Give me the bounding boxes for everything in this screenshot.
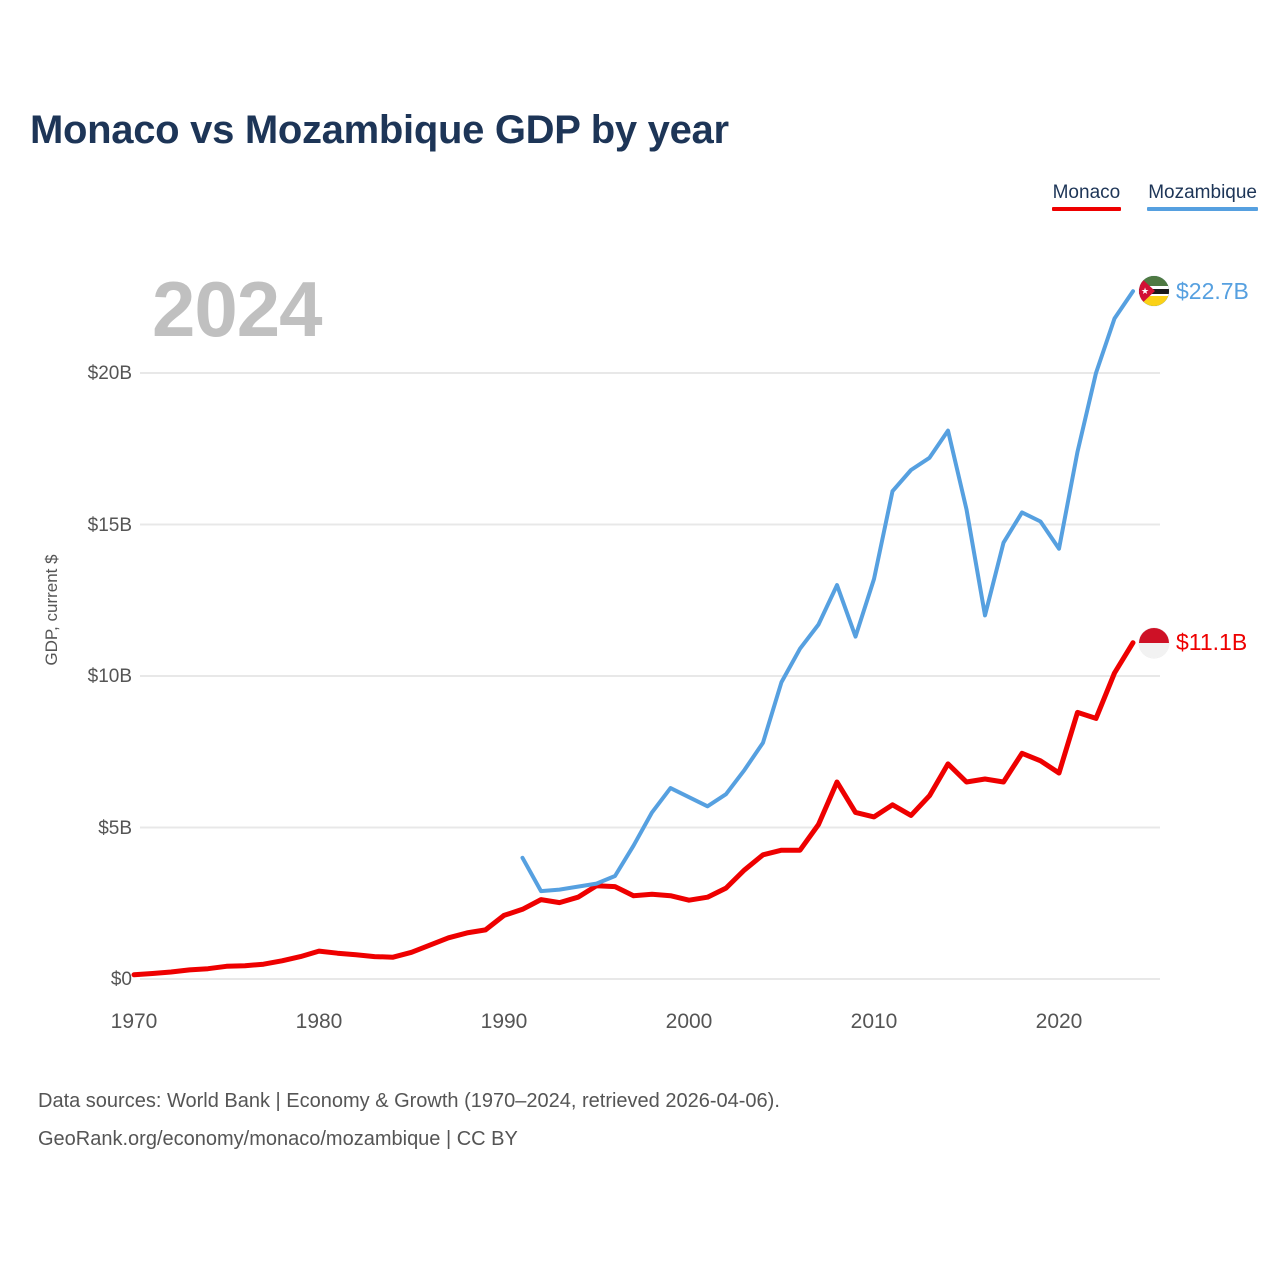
end-label-monaco-value: $11.1B xyxy=(1176,629,1247,656)
y-tick-label: $15B xyxy=(12,515,132,537)
footer-line-2: GeoRank.org/economy/monaco/mozambique | … xyxy=(38,1120,780,1158)
monaco-flag-icon xyxy=(1139,628,1169,658)
end-label-mozambique: ★ $22.7B xyxy=(1139,276,1249,306)
y-tick-label: $0 xyxy=(12,969,132,991)
x-tick-label: 2010 xyxy=(851,1010,898,1034)
x-tick-label: 2020 xyxy=(1036,1010,1083,1034)
x-tick-label: 1990 xyxy=(481,1010,528,1034)
series-line-monaco xyxy=(134,643,1133,975)
mozambique-flag-icon: ★ xyxy=(1139,276,1169,306)
y-tick-label: $10B xyxy=(12,666,132,688)
y-tick-label: $5B xyxy=(12,818,132,840)
end-label-mozambique-value: $22.7B xyxy=(1176,278,1249,305)
end-label-monaco: $11.1B xyxy=(1139,628,1247,658)
x-tick-label: 2000 xyxy=(666,1010,713,1034)
x-tick-label: 1980 xyxy=(296,1010,343,1034)
chart-container: Monaco vs Mozambique GDP by year Monaco … xyxy=(0,0,1280,1280)
x-tick-label: 1970 xyxy=(111,1010,158,1034)
footer-attribution: Data sources: World Bank | Economy & Gro… xyxy=(38,1082,780,1158)
y-tick-label: $20B xyxy=(12,363,132,385)
footer-line-1: Data sources: World Bank | Economy & Gro… xyxy=(38,1082,780,1120)
